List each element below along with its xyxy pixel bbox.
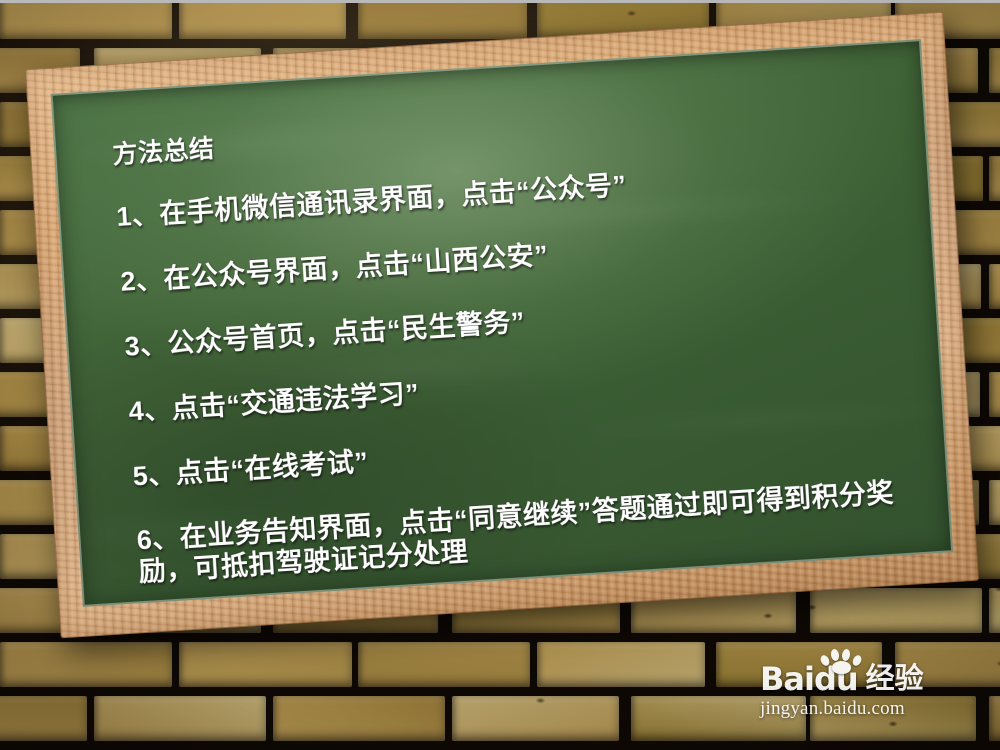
brick	[989, 696, 1000, 741]
step-item-1: 1、在手机微信通讯录界面，点击“公众号”	[115, 150, 912, 234]
brick	[537, 642, 705, 687]
brick	[0, 0, 172, 39]
brick	[989, 480, 1000, 525]
brick	[895, 642, 1000, 687]
top-edge-strip	[0, 0, 1000, 3]
brick	[452, 696, 619, 741]
brick	[358, 0, 527, 39]
brick	[989, 372, 1000, 417]
brick	[631, 696, 806, 741]
brick-row	[0, 696, 1000, 741]
chalkboard: 方法总结 1、在手机微信通讯录界面，点击“公众号” 2、在公众号界面，点击“山西…	[25, 12, 979, 639]
brick	[989, 264, 1000, 309]
brick	[989, 588, 1000, 633]
brick	[989, 48, 1000, 93]
brick	[810, 696, 976, 741]
brick	[989, 156, 1000, 201]
brick	[273, 696, 445, 741]
chalkboard-slate-surface: 方法总结 1、在手机微信通讯录界面，点击“公众号” 2、在公众号界面，点击“山西…	[51, 39, 954, 607]
step-item-4: 4、点击“交通违法学习”	[128, 345, 925, 429]
brick	[0, 696, 87, 741]
step-item-2: 2、在公众号界面，点击“山西公安”	[119, 215, 916, 299]
brick	[716, 642, 882, 687]
brick	[0, 642, 172, 687]
brick	[358, 642, 530, 687]
brick	[179, 642, 352, 687]
brick	[179, 0, 346, 39]
brick-row	[0, 642, 1000, 687]
step-item-5: 5、点击“在线考试”	[132, 410, 929, 494]
brick	[810, 588, 982, 633]
chalkboard-content: 方法总结 1、在手机微信通讯录界面，点击“公众号” 2、在公众号界面，点击“山西…	[112, 90, 935, 588]
step-item-3: 3、公众号首页，点击“民生警务”	[124, 280, 921, 364]
brick	[94, 696, 266, 741]
